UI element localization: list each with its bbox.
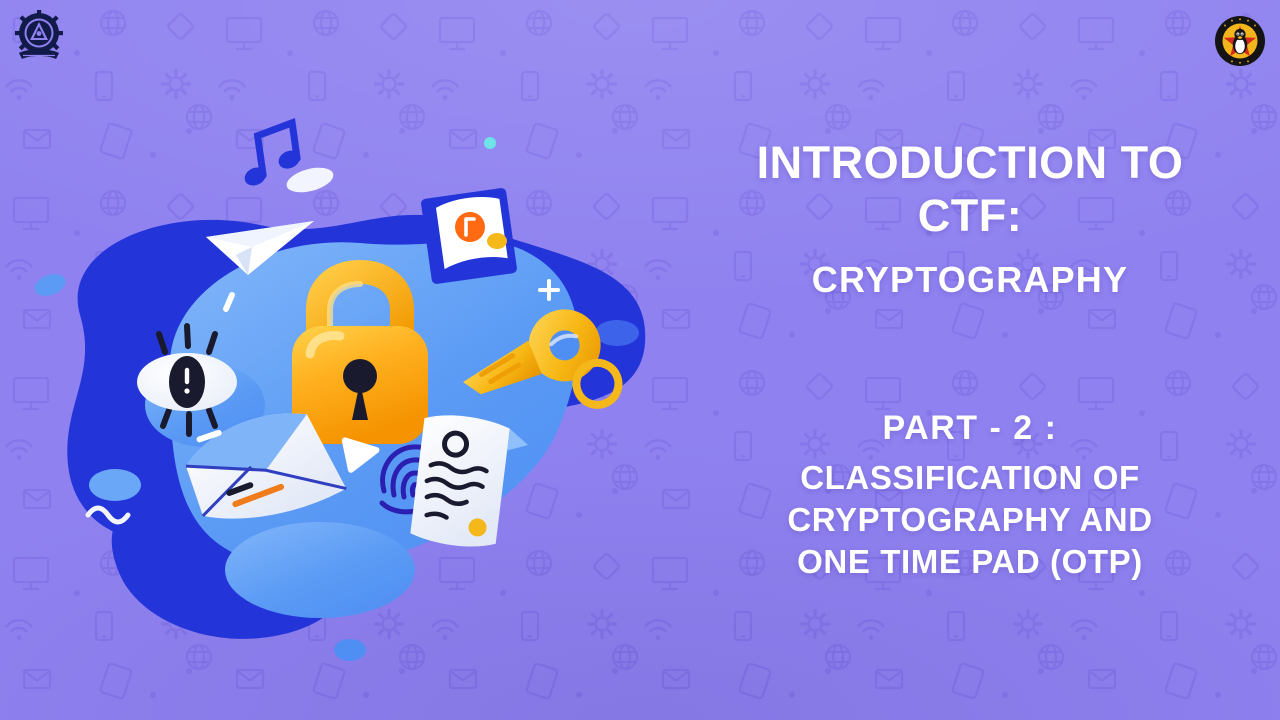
part-description: CLASSIFICATION OF CRYPTOGRAPHY AND ONE T… (690, 457, 1250, 583)
part-block: PART - 2 : CLASSIFICATION OF CRYPTOGRAPH… (690, 409, 1250, 583)
title-line-1: INTRODUCTION TO (690, 137, 1250, 189)
title-line-2: CTF: (690, 190, 1250, 242)
part-label: PART - 2 : (690, 409, 1250, 448)
part-desc-line-1: CLASSIFICATION OF (690, 457, 1250, 499)
institution-crest-icon (12, 9, 66, 65)
cyber-security-illustration (20, 75, 670, 675)
accent-ellipse-white (284, 163, 336, 197)
part-desc-line-2: CRYPTOGRAPHY AND (690, 499, 1250, 541)
page-title: INTRODUCTION TO CTF: (690, 137, 1250, 241)
title-subtitle: CRYPTOGRAPHY (690, 259, 1250, 301)
accent-ellipse-right (595, 320, 639, 346)
accent-dot-teal (484, 137, 496, 149)
main-title-block: INTRODUCTION TO CTF: CRYPTOGRAPHY (690, 137, 1250, 300)
accent-ellipse-bottom (334, 639, 366, 661)
title-slide: INTRODUCTION TO CTF: CRYPTOGRAPHY PART -… (0, 0, 1280, 720)
title-text-panel: INTRODUCTION TO CTF: CRYPTOGRAPHY PART -… (690, 0, 1250, 720)
accent-ellipse-left (32, 270, 69, 300)
photo-card-icon (420, 187, 517, 284)
part-desc-line-3: ONE TIME PAD (OTP) (690, 541, 1250, 583)
accent-ellipse-mid (89, 469, 141, 501)
